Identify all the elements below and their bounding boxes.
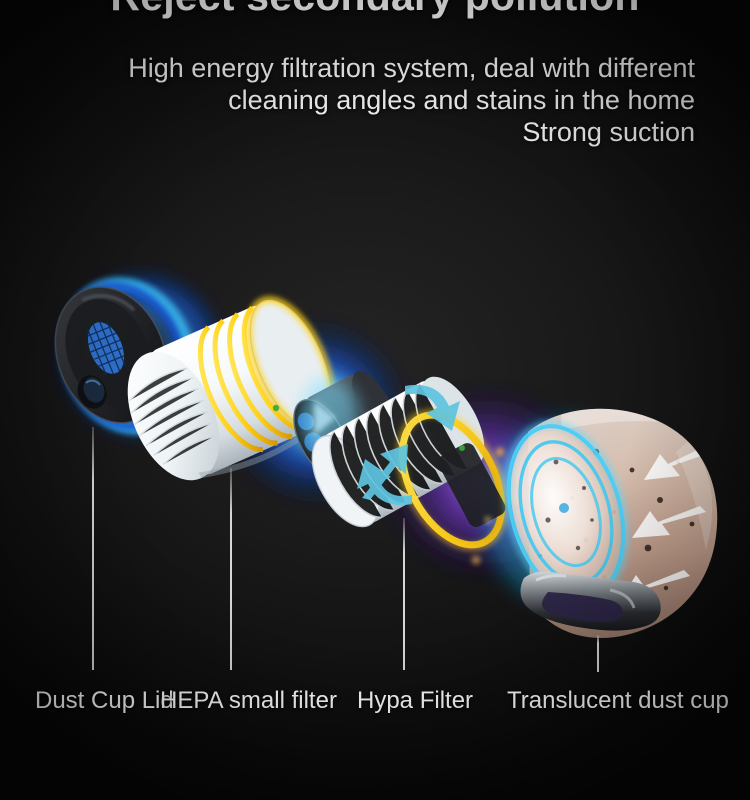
- subheadline-line-1: High energy filtration system, deal with…: [75, 52, 695, 84]
- product-poster: Reject secondary pollution High energy f…: [0, 0, 750, 800]
- callout-label-hypa-filter: Hypa Filter: [357, 687, 473, 715]
- callout-label-hepa-small-filter: HEPA small filter: [160, 687, 337, 715]
- callout-label-translucent-dust-cup: Translucent dust cup: [507, 687, 729, 715]
- subheadline-block: High energy filtration system, deal with…: [75, 52, 695, 148]
- subheadline-line-3: Strong suction: [75, 116, 695, 148]
- leader-line-translucent-dust-cup: [597, 635, 599, 672]
- leader-line-hepa-small-filter: [230, 468, 232, 670]
- page-title: Reject secondary pollution: [0, 0, 750, 18]
- headline-block: Reject secondary pollution: [0, 0, 750, 18]
- callout-label-dust-cup-lid: Dust Cup Lid: [35, 687, 174, 715]
- subheadline-line-2: cleaning angles and stains in the home: [75, 84, 695, 116]
- leader-line-dust-cup-lid: [92, 427, 94, 670]
- leader-line-hypa-filter: [403, 518, 405, 670]
